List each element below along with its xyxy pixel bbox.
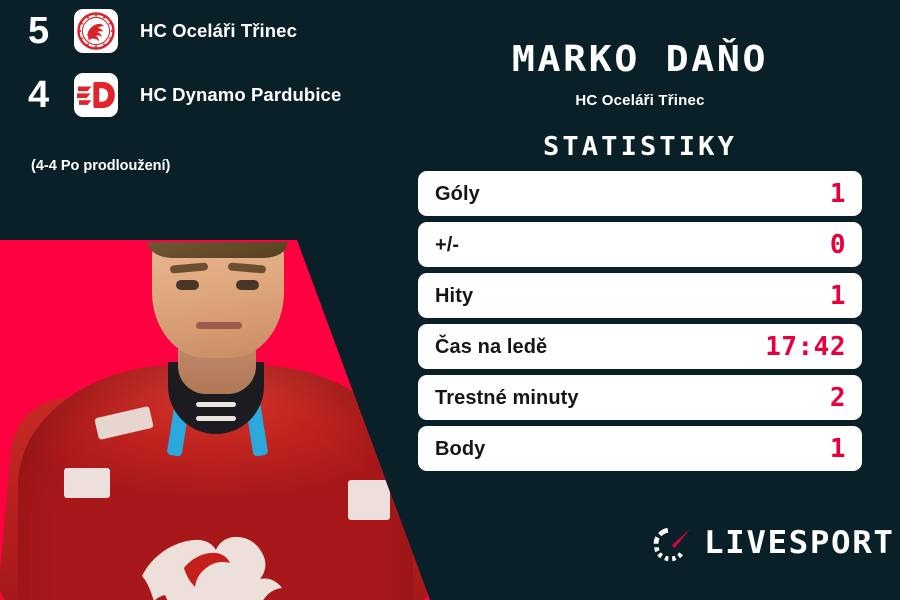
livesport-wordmark: LIVESPORT	[704, 528, 895, 559]
stats-heading: STATISTIKY	[409, 134, 871, 160]
photo-lace	[196, 402, 236, 407]
stat-row: Góly 1	[418, 171, 862, 216]
scoreboard: 5 HC Oceláři Třinec	[0, 0, 420, 126]
result-note: (4-4 Po prodloužení)	[31, 158, 170, 174]
photo-mouth	[196, 322, 242, 329]
livesport-logo: LIVESPORT	[650, 522, 885, 564]
score-home: 5	[28, 12, 74, 50]
jersey-dragon-logo	[128, 510, 318, 600]
photo-hair	[148, 176, 288, 258]
stat-row: Trestné minuty 2	[418, 375, 862, 420]
photo-sponsor-patch	[348, 480, 390, 520]
score-away: 4	[28, 76, 74, 114]
livesport-speedometer-icon	[650, 522, 692, 564]
stat-label: Hity	[435, 286, 473, 306]
stat-row: Hity 1	[418, 273, 862, 318]
stat-value: 1	[830, 283, 846, 309]
stat-label: +/-	[435, 235, 459, 255]
player-photo	[0, 150, 430, 600]
photo-sponsor-patch	[64, 468, 110, 498]
stat-row: Body 1	[418, 426, 862, 471]
stat-value: 1	[830, 181, 846, 207]
stat-label: Čas na ledě	[435, 337, 547, 357]
player-name: MARKO DAŇO	[405, 42, 876, 78]
stat-label: Trestné minuty	[435, 388, 579, 408]
stat-value: 2	[830, 385, 846, 411]
stat-value: 0	[830, 232, 846, 258]
stats-list: Góly 1 +/- 0 Hity 1 Čas na ledě 17:42 Tr…	[418, 171, 862, 477]
score-row-home: 5 HC Oceláři Třinec	[0, 0, 420, 62]
stat-label: Góly	[435, 184, 480, 204]
stats-panel: MARKO DAŇO HC Oceláři Třinec STATISTIKY …	[418, 0, 900, 600]
photo-lace	[196, 416, 236, 421]
player-team: HC Oceláři Třinec	[418, 92, 862, 109]
stat-value: 17:42	[765, 334, 846, 360]
stat-row: Čas na ledě 17:42	[418, 324, 862, 369]
team-name-home: HC Oceláři Třinec	[140, 20, 297, 42]
score-row-away: 4 HC Dynamo Pardubice	[0, 64, 420, 126]
stat-row: +/- 0	[418, 222, 862, 267]
stat-value: 1	[830, 436, 846, 462]
stat-card: 5 HC Oceláři Třinec	[0, 0, 900, 600]
pardubice-crest-icon	[74, 73, 118, 117]
team-name-away: HC Dynamo Pardubice	[140, 84, 341, 106]
trinec-crest-icon	[74, 9, 118, 53]
photo-eye	[236, 280, 259, 290]
stat-label: Body	[435, 439, 485, 459]
photo-eye	[176, 280, 199, 290]
